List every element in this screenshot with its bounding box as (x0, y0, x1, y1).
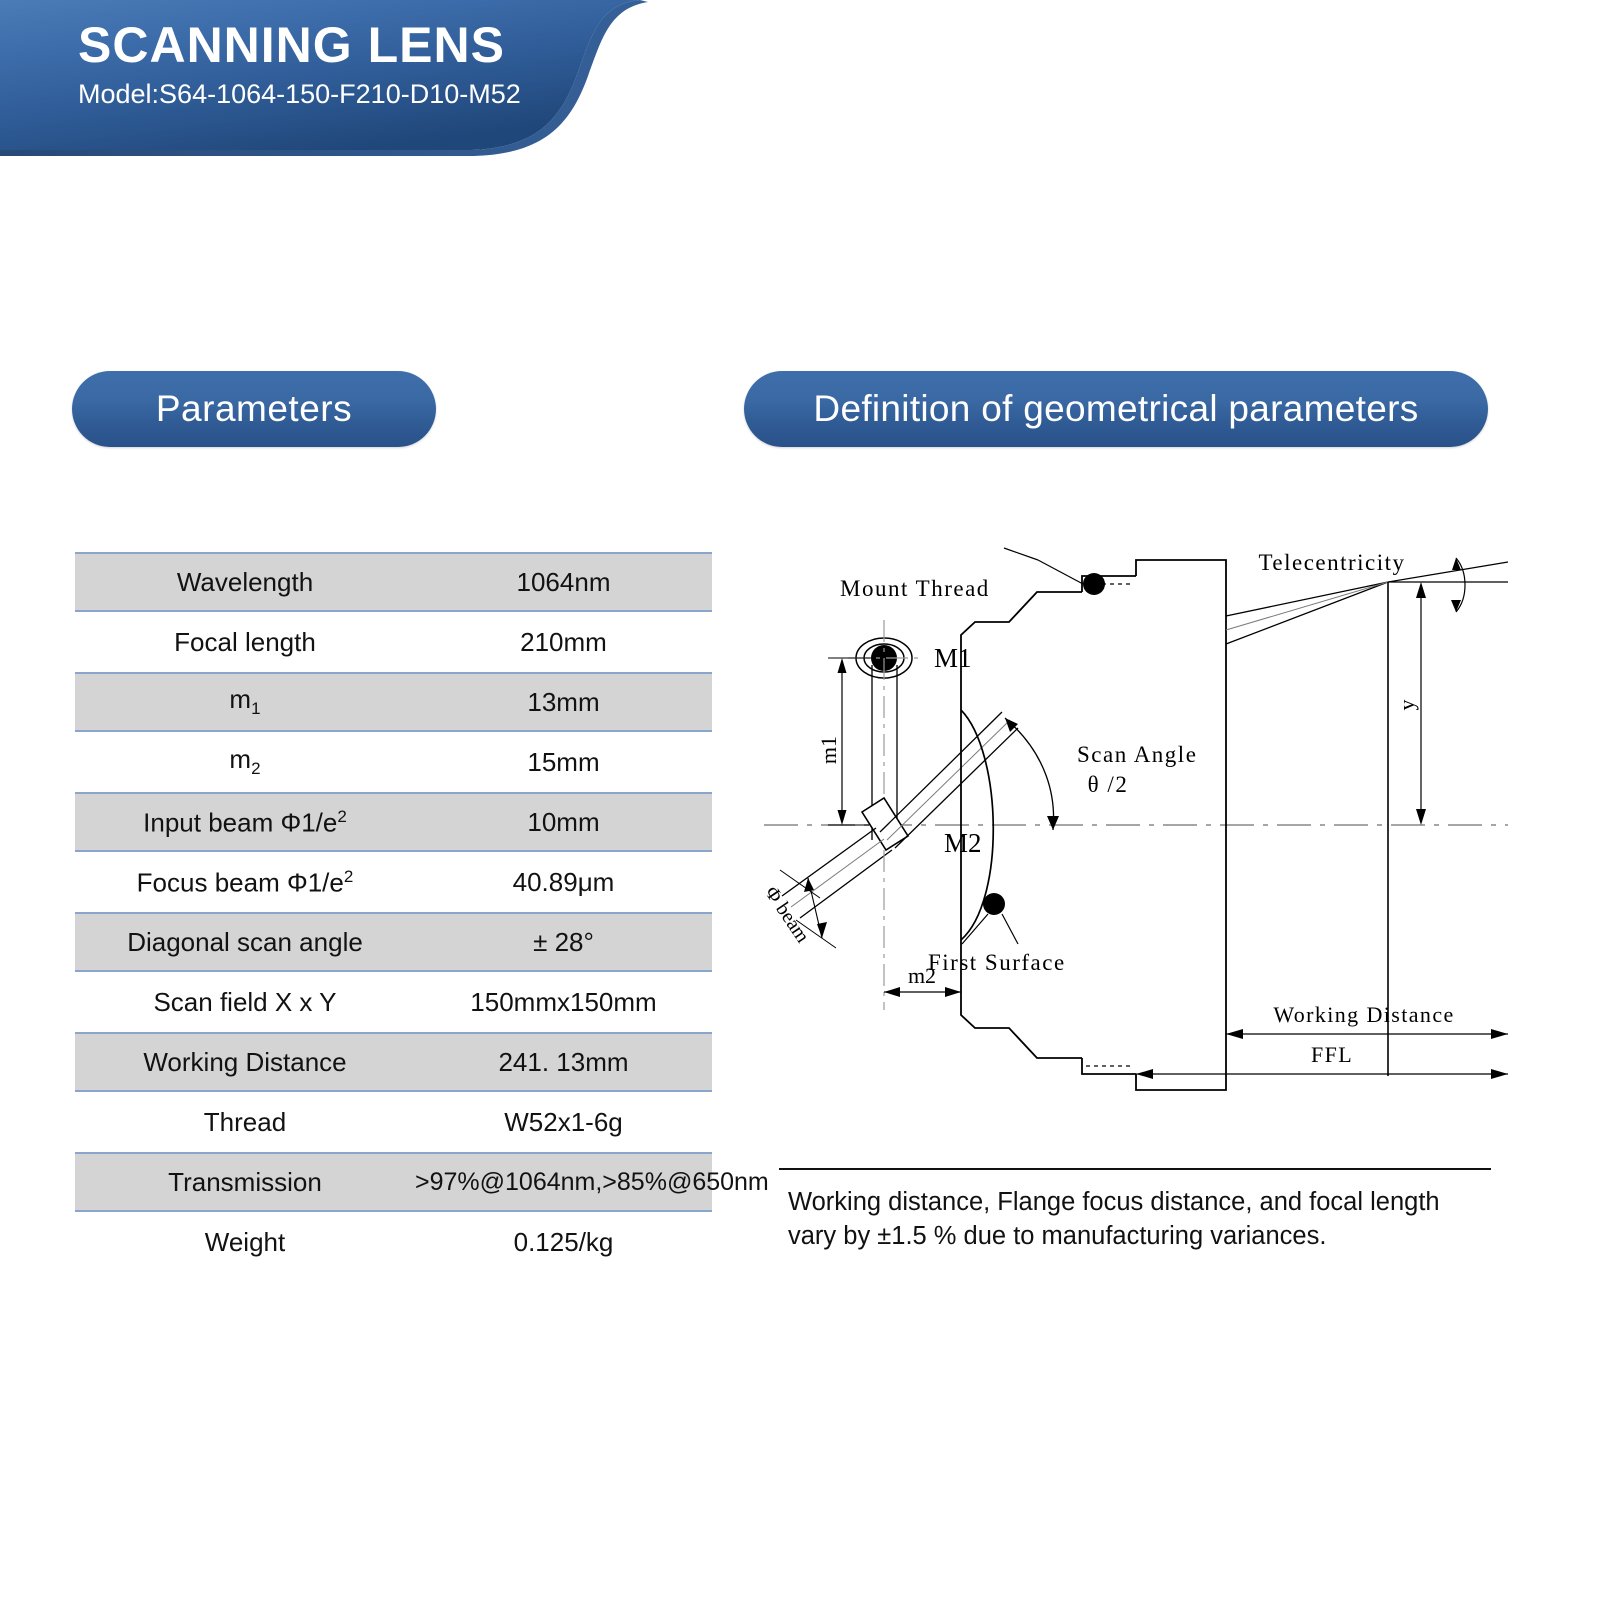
table-row: Transmission>97%@1064nm,>85%@650nm (75, 1152, 712, 1212)
parameters-table: Wavelength1064nmFocal length210mmm113mmm… (75, 552, 712, 1272)
section-header-parameters-label: Parameters (156, 388, 352, 430)
table-row-label-subscript: 2 (251, 760, 260, 779)
table-row-value: 10mm (415, 809, 712, 835)
ffl-label: FFL (1311, 1042, 1353, 1067)
table-row: Scan field X x Y150mmx150mm (75, 972, 712, 1032)
table-row-label-superscript: 2 (344, 867, 353, 886)
telecentricity-label: Telecentricity (1258, 550, 1405, 575)
page-title: SCANNING LENS (78, 18, 638, 72)
table-row: Focus beam Φ1/e240.89μm (75, 852, 712, 912)
model-number: Model:S64-1064-150-F210-D10-M52 (78, 78, 638, 110)
table-row-value: W52x1-6g (415, 1109, 712, 1135)
scan-angle-arc (1005, 718, 1059, 830)
table-row-value: 40.89μm (415, 869, 712, 895)
mount-thread-label: Mount Thread (840, 576, 990, 601)
header-banner: SCANNING LENS Model:S64-1064-150-F210-D1… (0, 0, 680, 160)
mount-thread-callout (1004, 548, 1105, 595)
m2-dimension-label: m2 (908, 963, 936, 988)
table-row-label: m1 (75, 686, 415, 717)
table-row: Diagonal scan angle± 28° (75, 912, 712, 972)
y-dimension: y (1394, 582, 1426, 825)
first-surface-callout (962, 893, 1018, 944)
m1-dimension: m1 (816, 658, 872, 825)
scan-angle-label: Scan Angle (1077, 742, 1197, 767)
note-divider (779, 1168, 1491, 1170)
working-distance-dimension: Working Distance (1226, 1002, 1508, 1039)
manufacturing-note-line2: vary by ±1.5 % due to manufacturing vari… (788, 1220, 1488, 1254)
table-row: Working Distance241. 13mm (75, 1032, 712, 1092)
table-row-value: 241. 13mm (415, 1049, 712, 1075)
table-row-value: 15mm (415, 749, 712, 775)
section-header-geometry-label: Definition of geometrical parameters (813, 388, 1418, 430)
table-row-label-subscript: 1 (251, 700, 260, 719)
m2-label: M2 (944, 828, 982, 858)
manufacturing-note-line1: Working distance, Flange focus distance,… (788, 1186, 1488, 1220)
first-surface-label: First Surface (928, 950, 1066, 975)
table-row-label: Focal length (75, 629, 415, 655)
working-distance-label: Working Distance (1273, 1002, 1454, 1027)
section-header-parameters: Parameters (72, 371, 436, 447)
table-row-value: 210mm (415, 629, 712, 655)
geometry-diagram-svg: M1 m1 M2 (756, 540, 1516, 1110)
table-row-label: Focus beam Φ1/e2 (75, 868, 415, 896)
table-row-label: Wavelength (75, 569, 415, 595)
table-row-value: 150mmx150mm (415, 989, 712, 1015)
scan-angle-value: θ /2 (1088, 772, 1129, 797)
table-row-label: Thread (75, 1109, 415, 1135)
manufacturing-note: Working distance, Flange focus distance,… (788, 1186, 1488, 1253)
geometry-diagram: M1 m1 M2 (756, 540, 1516, 1110)
table-row-label: Diagonal scan angle (75, 929, 415, 955)
table-row: m113mm (75, 672, 712, 732)
telecentricity-arc (1451, 558, 1465, 612)
table-row-label: Working Distance (75, 1049, 415, 1075)
table-row-value: >97%@1064nm,>85%@650nm (415, 1170, 769, 1195)
table-row-label-superscript: 2 (337, 807, 346, 826)
table-row: Weight0.125/kg (75, 1212, 712, 1272)
m2-dimension: m2 (884, 850, 961, 1010)
y-dimension-label: y (1394, 700, 1419, 711)
table-row-value: 0.125/kg (415, 1229, 712, 1255)
table-row-label: Scan field X x Y (75, 989, 415, 1015)
table-row-value: 1064nm (415, 569, 712, 595)
table-row: m215mm (75, 732, 712, 792)
table-row: ThreadW52x1-6g (75, 1092, 712, 1152)
m1-dimension-label: m1 (816, 736, 841, 764)
table-row: Focal length210mm (75, 612, 712, 672)
table-row-label: Weight (75, 1229, 415, 1255)
table-row-value: 13mm (415, 689, 712, 715)
table-row-label: Transmission (75, 1169, 415, 1195)
table-row-label: m2 (75, 746, 415, 777)
table-row: Input beam Φ1/e210mm (75, 792, 712, 852)
table-row: Wavelength1064nm (75, 552, 712, 612)
table-row-label: Input beam Φ1/e2 (75, 808, 415, 836)
m1-label: M1 (934, 643, 972, 673)
phi-beam-rays (782, 828, 892, 918)
banner-text-block: SCANNING LENS Model:S64-1064-150-F210-D1… (78, 18, 638, 110)
ffl-dimension: FFL (1136, 1042, 1508, 1080)
section-header-geometry: Definition of geometrical parameters (744, 371, 1488, 447)
table-row-value: ± 28° (415, 929, 712, 955)
